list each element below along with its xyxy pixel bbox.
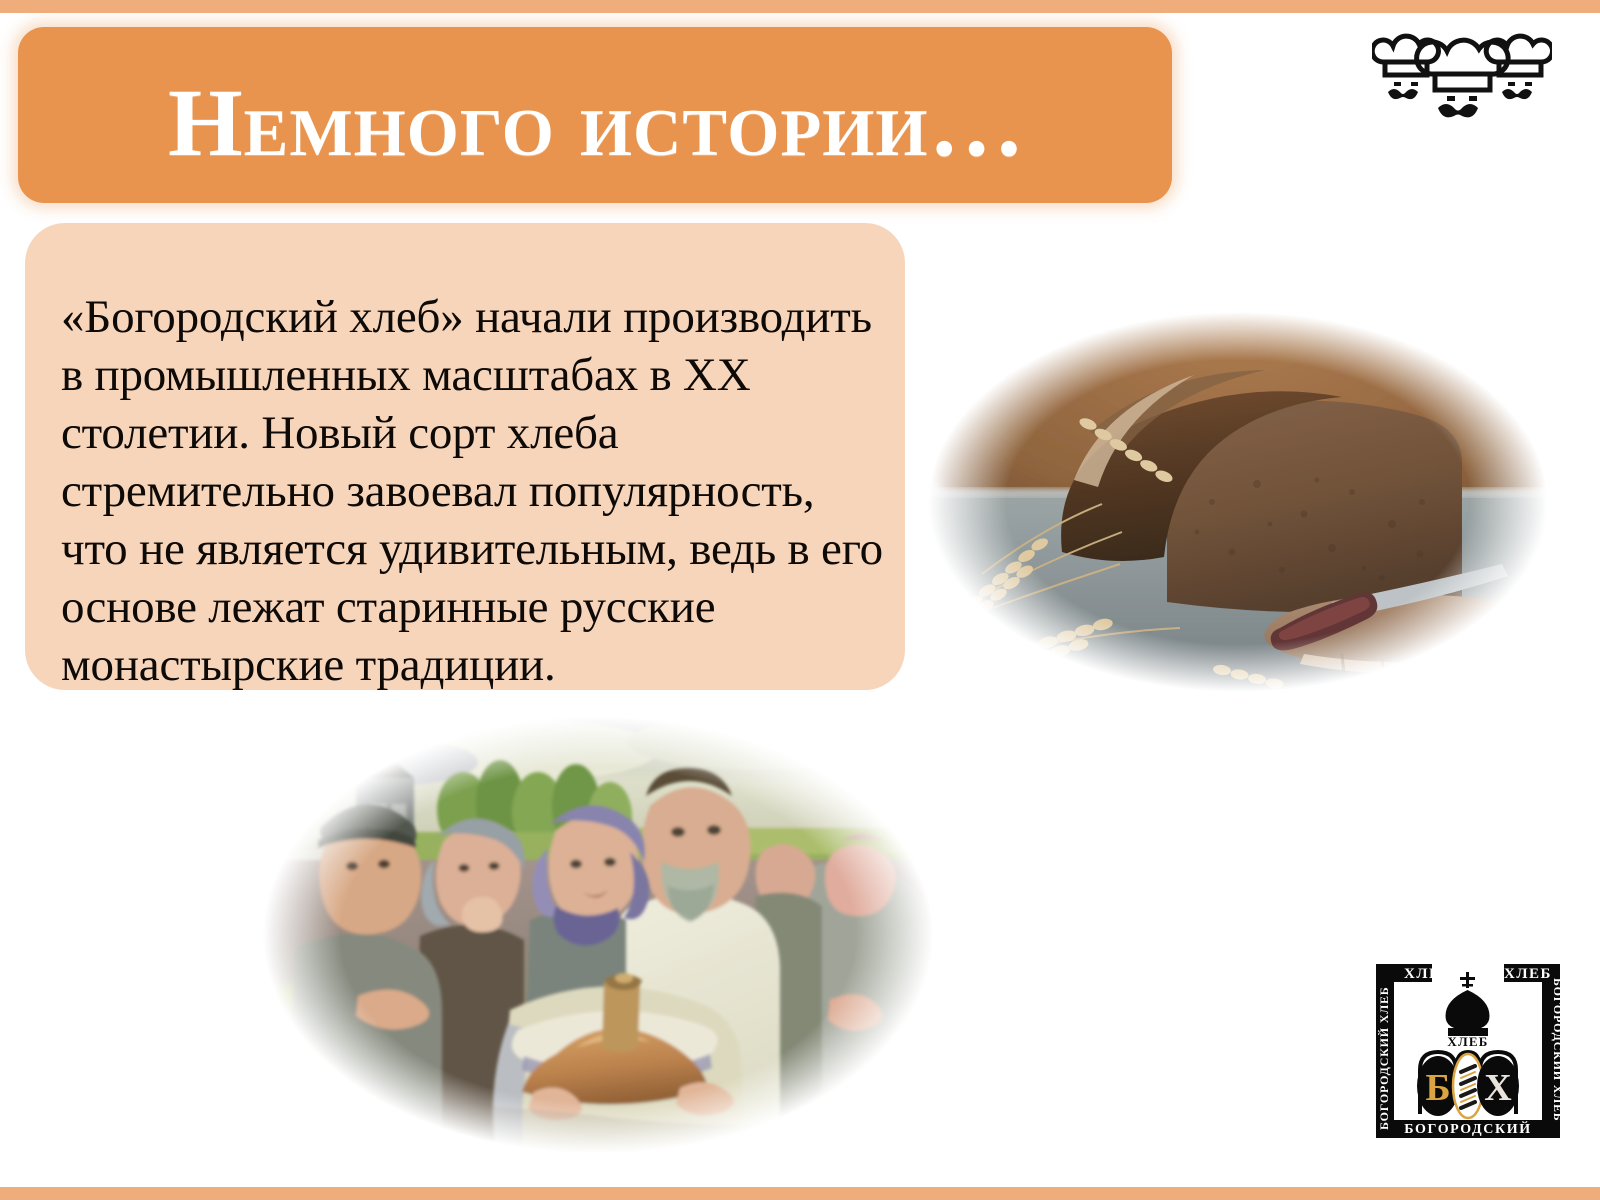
- page-title: Немного истории…: [168, 75, 1068, 171]
- logo-monogram-left: Б: [1425, 1067, 1450, 1109]
- logo-dome-word: ХЛЕБ: [1447, 1034, 1488, 1049]
- body-paragraph: «Богородский хлеб» начали производить в …: [61, 288, 885, 694]
- logo-top-left-word: ХЛЕБ: [1404, 966, 1452, 982]
- logo-top-right-word: ХЛЕБ: [1504, 966, 1552, 982]
- peasants-with-bread-painting: [238, 700, 958, 1170]
- logo-left-border-word: БОГОРОДСКИЙ ХЛЕБ: [1377, 987, 1391, 1131]
- top-accent-strip: [0, 0, 1600, 13]
- body-text-panel: «Богородский хлеб» начали производить в …: [25, 223, 905, 690]
- bread-loaf-photo: [912, 302, 1564, 702]
- title-banner: Немного истории…: [18, 27, 1172, 203]
- logo-monogram-right: Х: [1484, 1067, 1511, 1109]
- bogorodsky-hleb-logo: ХЛЕБ ХЛЕБ БОГОРОДСКИЙ ХЛЕБ БОГОРОДСКИЙ Х…: [1368, 942, 1568, 1146]
- chef-hats-icon: [1372, 22, 1552, 122]
- logo-bottom-border-word: БОГОРОДСКИЙ: [1404, 1120, 1531, 1137]
- presentation-slide: Немного истории…: [0, 0, 1600, 1200]
- bottom-accent-strip: [0, 1187, 1600, 1200]
- onion-dome-icon: [1446, 972, 1490, 1036]
- logo-right-border-word: БОГОРОДСКИЙ ХЛЕБ: [1551, 978, 1565, 1122]
